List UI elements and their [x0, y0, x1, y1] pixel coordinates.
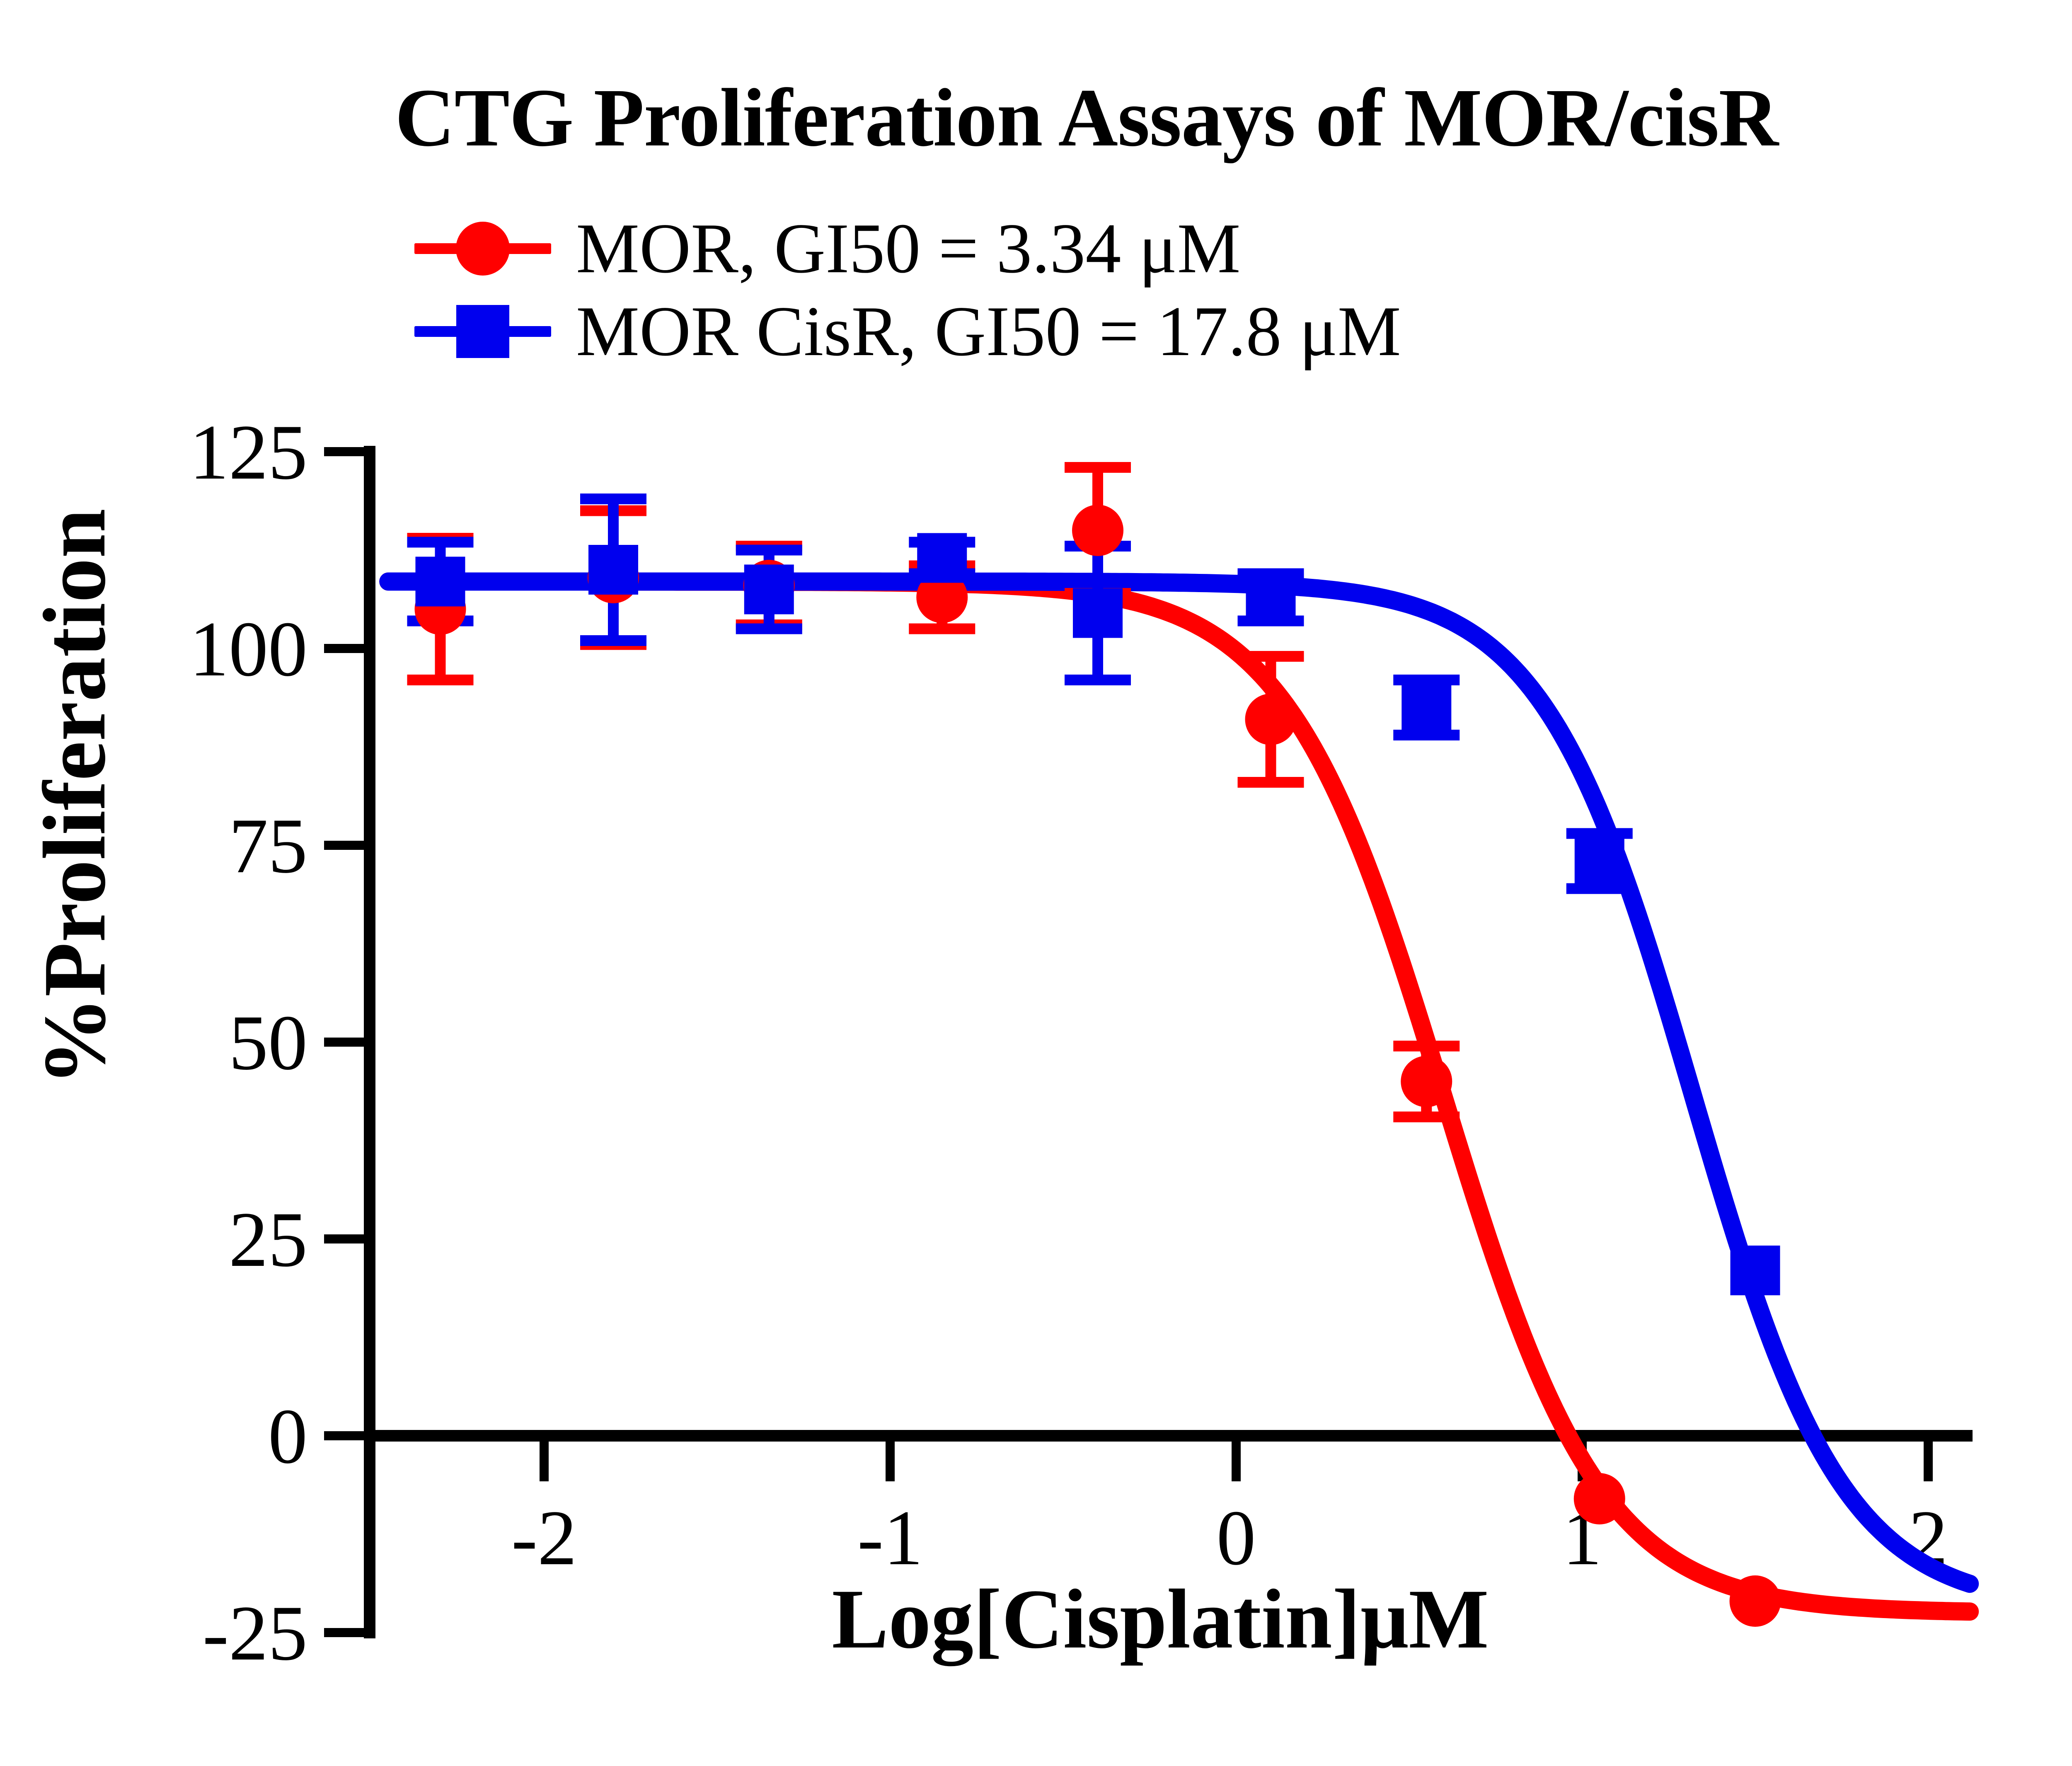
x-tick-label: -2: [511, 1495, 577, 1582]
data-point-square: [1073, 588, 1123, 638]
axes-lines: [324, 446, 1973, 1638]
fit-curve: [388, 582, 1970, 1612]
y-axis-tick-labels: -250255075100125: [189, 409, 307, 1677]
data-point-square: [1402, 683, 1451, 733]
y-tick-label: 0: [268, 1393, 307, 1480]
x-axis-title: Log[Cisplatin]μM: [704, 1570, 1616, 1668]
y-tick-label: 125: [189, 409, 307, 496]
y-tick-label: 75: [229, 803, 307, 890]
data-point-circle: [1401, 1056, 1452, 1107]
data-point-square: [1731, 1246, 1780, 1295]
y-tick-label: 50: [229, 999, 307, 1086]
data-point-square: [917, 533, 967, 583]
data-point-square: [1575, 836, 1624, 886]
x-tick-label: 0: [1217, 1495, 1256, 1582]
data-point-square: [744, 565, 794, 614]
data-point-square: [1246, 573, 1296, 622]
y-tick-label: 25: [229, 1196, 307, 1283]
data-point-circle: [1730, 1575, 1781, 1627]
x-axis-tick-labels: -2-1012: [511, 1495, 1948, 1582]
y-tick-label: 100: [189, 606, 307, 693]
figure-root: CTG Proliferation Assays of MOR/cisR MOR…: [0, 0, 2072, 1766]
data-point-circle: [1245, 694, 1297, 745]
x-tick-label: -1: [857, 1495, 923, 1582]
y-axis-title: %Proliferation: [23, 300, 126, 1294]
data-point-circle: [1072, 505, 1123, 556]
data-point-square: [416, 557, 465, 607]
fit-curves: [388, 582, 1970, 1612]
chart-canvas: -250255075100125 -2-1012: [0, 0, 2072, 1766]
y-tick-label: -25: [203, 1590, 307, 1677]
data-point-circle: [1574, 1473, 1625, 1524]
data-point-square: [588, 545, 638, 595]
